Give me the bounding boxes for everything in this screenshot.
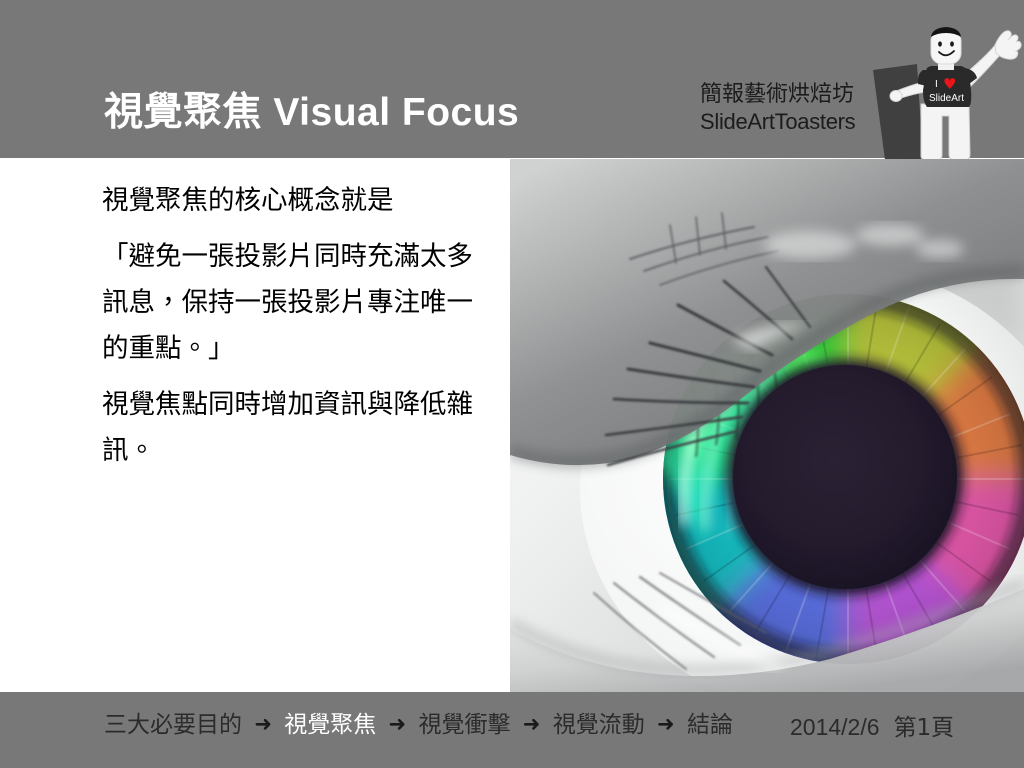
breadcrumb-item-4[interactable]: 視覺流動 (553, 712, 645, 738)
pupil (727, 359, 963, 595)
page-number: 第1頁 (894, 715, 955, 741)
mascot-eye-right (950, 41, 954, 46)
body-copy: 視覺聚焦的核心概念就是 「避免一張投影片同時充滿太多訊息，保持一張投影片專注唯一… (102, 178, 492, 484)
breadcrumb-item-3[interactable]: 視覺衝擊 (418, 712, 510, 738)
page-title-en: Visual Focus (273, 91, 519, 134)
breadcrumb: 三大必要目的 ➜ 視覺聚焦 ➜ 視覺衝擊 ➜ 視覺流動 ➜ 結論 (104, 714, 733, 737)
shirt-text-i: I (935, 79, 938, 90)
body-paragraph-3: 視覺焦點同時增加資訊與降低雜訊。 (102, 382, 492, 474)
arrow-right-icon: ➜ (384, 712, 412, 736)
shirt-text-slideart: SlideArt (929, 93, 964, 104)
arrow-right-icon: ➜ (249, 712, 277, 736)
heart-icon: ♥ (943, 75, 956, 93)
page-title-cn: 視覺聚焦 (104, 91, 262, 134)
body-paragraph-1: 視覺聚焦的核心概念就是 (102, 178, 492, 224)
footer-meta: 2014/2/6第1頁 (790, 716, 954, 740)
breadcrumb-item-1[interactable]: 三大必要目的 (104, 712, 242, 738)
slideart-mascot-icon: I ♥ SlideArt (865, 8, 1024, 160)
slide-canvas: 視覺聚焦 Visual Focus 簡報藝術烘焙坊 SlideArtToaste… (0, 0, 1024, 768)
brand-name-en: SlideArtToasters (700, 109, 855, 136)
breadcrumb-item-5[interactable]: 結論 (687, 712, 733, 738)
mascot-eye-left (938, 41, 942, 46)
arrow-right-icon: ➜ (652, 712, 680, 736)
podium-shape (873, 64, 923, 160)
page-title: 視覺聚焦 Visual Focus (104, 92, 519, 135)
brand-lockup: 簡報藝術烘焙坊 SlideArtToasters (700, 82, 855, 136)
body-paragraph-2: 「避免一張投影片同時充滿太多訊息，保持一張投影片專注唯一的重點。」 (102, 234, 492, 372)
rainbow-iris-eye-photo (510, 159, 1024, 692)
brand-name-cn: 簡報藝術烘焙坊 (700, 82, 855, 109)
slide-date: 2014/2/6 (790, 714, 880, 740)
breadcrumb-item-2[interactable]: 視覺聚焦 (284, 712, 376, 738)
arrow-right-icon: ➜ (518, 712, 546, 736)
